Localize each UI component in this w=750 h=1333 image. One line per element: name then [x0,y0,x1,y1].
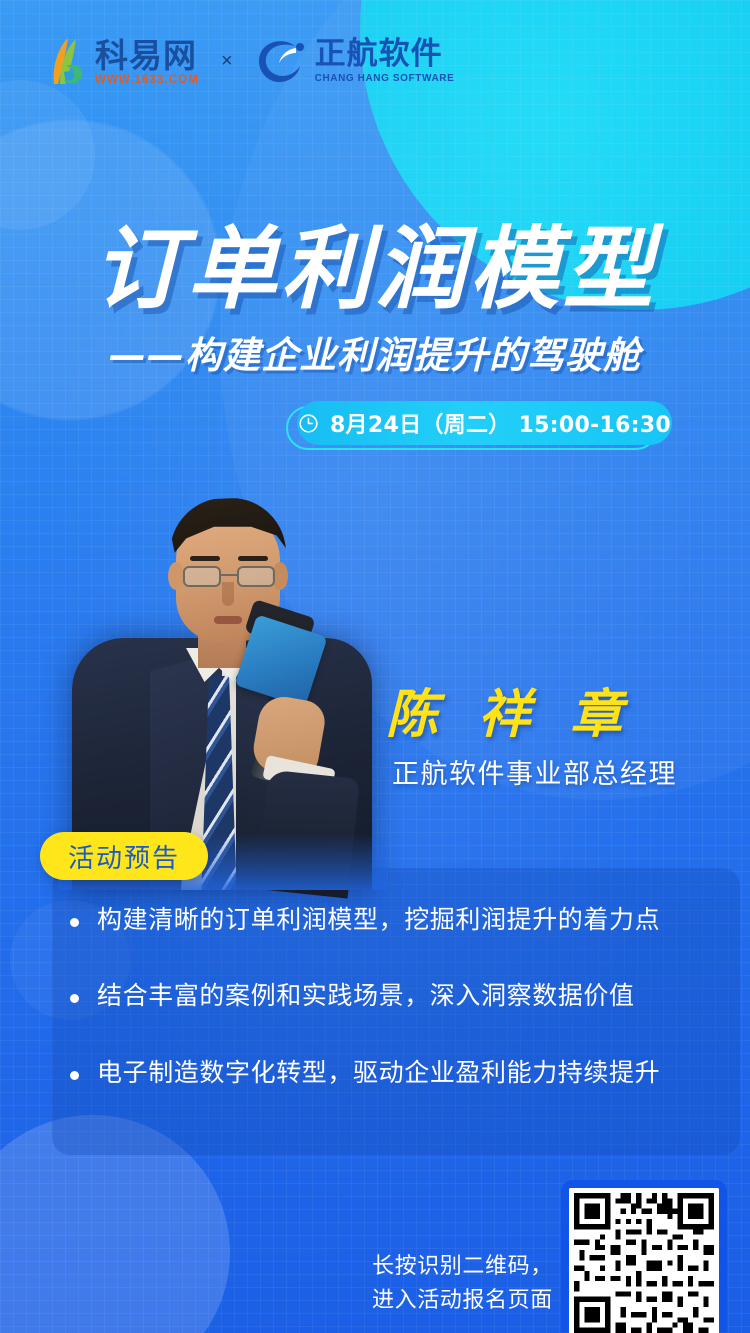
schedule-text: 8月24日（周二） 15:00-16:30 [330,407,671,439]
keyi-wordmark: 科易网 WWW.1633.COM [95,39,199,87]
logo-changhang[interactable]: 正航软件 CHANG HANG SOFTWARE [255,38,455,84]
clock-icon [298,413,319,434]
keyi-leaf-logo-icon [44,36,88,86]
speaker-nose [222,582,234,606]
promo-poster: 科易网 WWW.1633.COM × 正航软件 CHANG HANG SOFTW… [0,0,750,1333]
changhang-name-cn: 正航软件 [315,39,455,70]
agenda-item-text: 电子制造数字化转型，驱动企业盈利能力持续提升 [97,1055,660,1091]
agenda-badge-label: 活动预告 [68,838,180,875]
list-item: 构建清晰的订单利润模型，挖掘利润提升的着力点 [52,902,740,938]
header-logos: 科易网 WWW.1633.COM × 正航软件 CHANG HANG SOFTW… [44,36,454,86]
changhang-swoosh-logo-icon [255,38,307,84]
agenda-item-text: 结合丰富的案例和实践场景，深入洞察数据价值 [97,978,635,1014]
bullet-dot-icon [70,918,79,927]
registration-qr-code[interactable] [569,1188,719,1333]
list-item: 结合丰富的案例和实践场景，深入洞察数据价值 [52,978,740,1014]
schedule-badge-pill: 8月24日（周二） 15:00-16:30 [297,401,672,445]
speaker-mouth [214,616,242,624]
agenda-list: 构建清晰的订单利润模型，挖掘利润提升的着力点 结合丰富的案例和实践场景，深入洞察… [52,902,740,1131]
keyi-name-cn: 科易网 [95,39,199,72]
bullet-dot-icon [70,1071,79,1080]
speaker-eyebrow-right [238,556,268,561]
qr-instruction: 长按识别二维码， 进入活动报名页面 [372,1250,553,1318]
speaker-name: 陈 祥 章 [386,672,633,747]
qr-instruction-line1: 长按识别二维码， [372,1250,553,1284]
sub-title: ——构建企业利润提升的驾驶舱 [0,325,750,379]
speaker-photo [58,470,388,890]
qr-instruction-line2: 进入活动报名页面 [372,1284,553,1318]
agenda-badge: 活动预告 [40,832,208,880]
changhang-wordmark: 正航软件 CHANG HANG SOFTWARE [315,39,455,84]
qr-code-container[interactable] [561,1180,727,1332]
agenda-item-text: 构建清晰的订单利润模型，挖掘利润提升的着力点 [97,902,660,938]
logo-keyiwang[interactable]: 科易网 WWW.1633.COM [44,36,199,86]
speaker-eyebrow-left [190,556,220,561]
logo-separator: × [219,50,235,73]
schedule-badge: 8月24日（周二） 15:00-16:30 [286,401,672,449]
speaker-role: 正航软件事业部总经理 [392,752,677,791]
keyi-url: WWW.1633.COM [95,75,199,87]
bullet-dot-icon [70,994,79,1003]
list-item: 电子制造数字化转型，驱动企业盈利能力持续提升 [52,1055,740,1091]
changhang-name-en: CHANG HANG SOFTWARE [315,74,455,84]
main-title: 订单利润模型 [0,196,750,326]
